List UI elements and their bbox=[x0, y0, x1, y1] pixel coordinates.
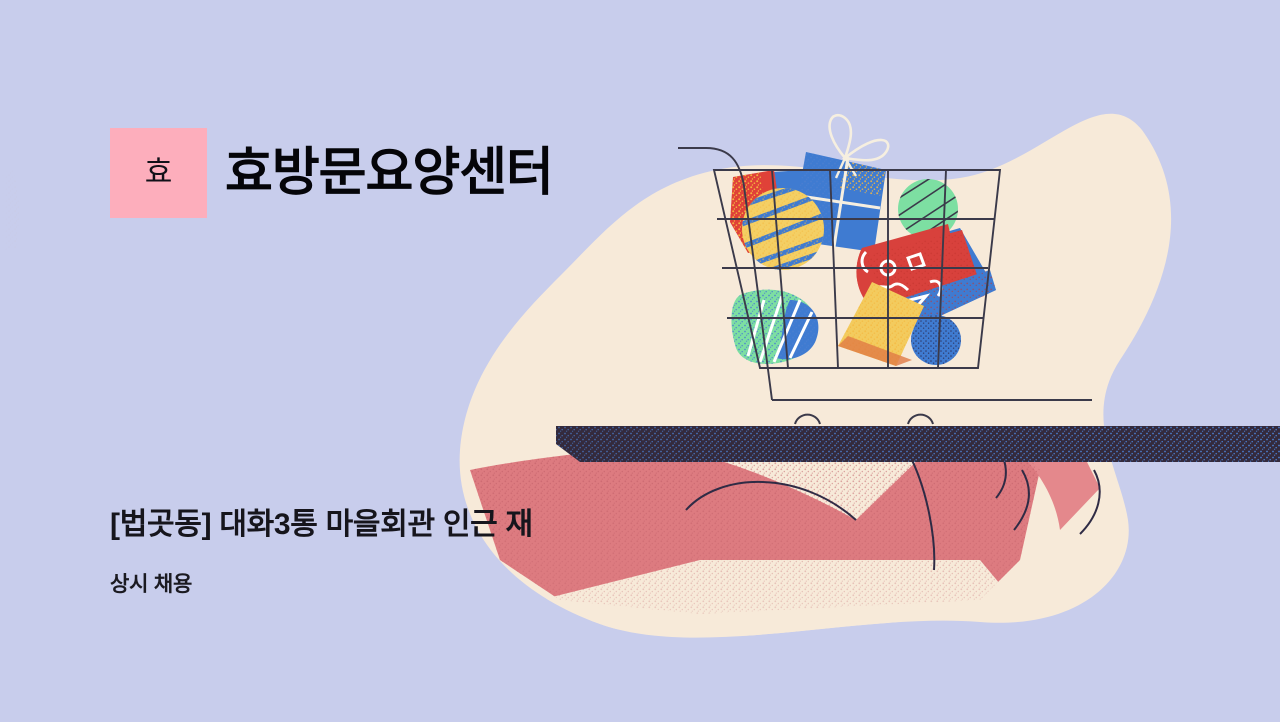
gift-box-blue bbox=[790, 115, 888, 252]
shopping-cart-illustration bbox=[0, 0, 1280, 722]
ball-blue bbox=[910, 314, 962, 366]
logo-badge-character: 효 bbox=[145, 158, 173, 188]
job-posting-card: 효 효방문요양센터 [법곳동] 대화3통 마을회관 인근 재 상시 채용 bbox=[0, 0, 1280, 722]
header: 효 효방문요양센터 bbox=[110, 128, 553, 218]
basket-outline bbox=[714, 170, 1000, 368]
job-posting-title: [법곳동] 대화3통 마을회관 인근 재 bbox=[110, 505, 533, 545]
cart-basket bbox=[678, 148, 1092, 400]
hand bbox=[470, 440, 1100, 640]
shelf-bar bbox=[556, 426, 1280, 462]
shape-green-blue-striped bbox=[731, 290, 818, 364]
employment-type-label: 상시 채용 bbox=[110, 570, 192, 600]
ball-green-striped bbox=[896, 172, 960, 242]
company-name: 효방문요양센터 bbox=[225, 147, 553, 199]
tag-red-patterned bbox=[856, 224, 996, 330]
background bbox=[0, 0, 1280, 722]
box-yellow-orange bbox=[838, 282, 924, 366]
ball-yellow-striped bbox=[742, 186, 826, 272]
cream-blob bbox=[460, 114, 1171, 638]
cart-wheels bbox=[788, 403, 939, 441]
company-logo-badge: 효 bbox=[110, 128, 207, 218]
cart-handle bbox=[678, 148, 772, 400]
